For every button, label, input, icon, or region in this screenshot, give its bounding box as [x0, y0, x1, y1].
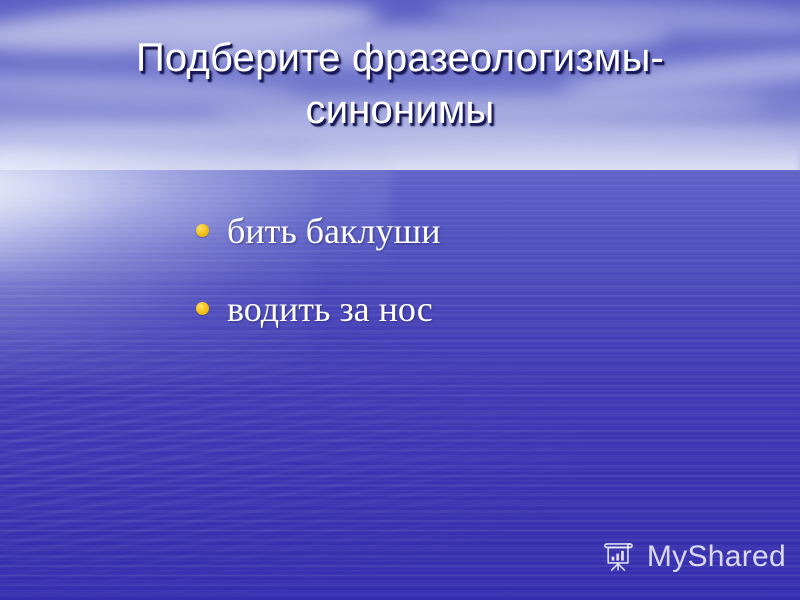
gold-dot-bullet-icon [196, 224, 209, 237]
presentation-easel-chart-icon [600, 538, 638, 576]
list-item-label: бить баклуши [227, 206, 440, 256]
bullet-list: бить баклуши водить за нос [196, 206, 756, 362]
list-item-label: водить за нос [227, 284, 433, 334]
slide-title: Подберите фразеологизмы- синонимы [40, 32, 760, 136]
myshared-label: MyShared [647, 541, 786, 573]
list-item: бить баклуши [196, 206, 756, 260]
presentation-slide: Подберите фразеологизмы- синонимы бить б… [0, 0, 800, 600]
myshared-watermark: MyShared [600, 538, 786, 576]
gold-dot-bullet-icon [196, 302, 209, 315]
list-item: водить за нос [196, 284, 756, 338]
